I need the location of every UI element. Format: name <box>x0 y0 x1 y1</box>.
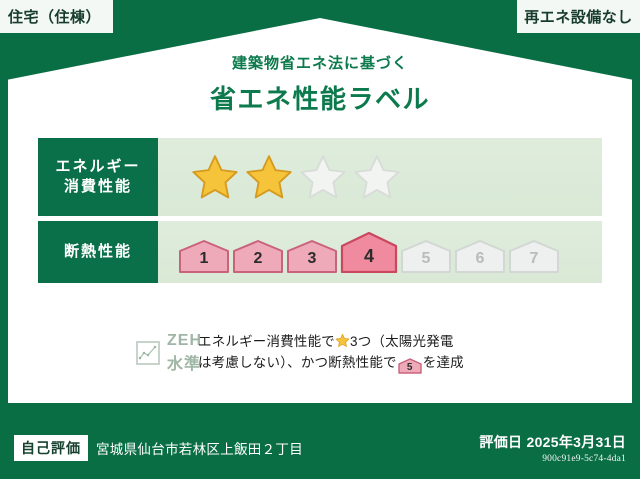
label-footer: 自己評価 宮城県仙台市若林区上飯田２丁目 評価日 2025年3月31日 900c… <box>0 417 640 479</box>
performance-rows: エネルギー 消費性能 <box>38 138 602 283</box>
note-text-part4: を達成 <box>423 355 464 370</box>
insulation-level-5-value: 5 <box>422 250 431 273</box>
evaluation-date: 評価日 2025年3月31日 <box>479 432 626 452</box>
insulation-level-6-value: 6 <box>476 250 485 273</box>
renewable-equipment-tab-label: 再エネ設備なし <box>524 6 633 27</box>
insulation-level-3: 3 <box>286 239 338 273</box>
energy-label-line1: エネルギー <box>55 157 140 177</box>
energy-performance-rating <box>158 138 602 216</box>
insulation-level-6: 6 <box>454 239 506 273</box>
star-rating <box>190 152 402 202</box>
zeh-standard-mark: ZEH水準 <box>38 332 198 374</box>
zeh-note-text: エネルギー消費性能で3つ（太陽光発電は考慮しない）、かつ断熱性能で5を達成 <box>198 332 602 374</box>
insulation-level-2-value: 2 <box>254 250 263 273</box>
insulation-level-7: 7 <box>508 239 560 273</box>
insulation-label: 断熱性能 <box>64 242 132 262</box>
renewable-equipment-tab: 再エネ設備なし <box>517 0 640 33</box>
zeh-label: ZEH水準 <box>167 332 202 374</box>
energy-performance-label-cell: エネルギー 消費性能 <box>38 138 158 216</box>
star-icon-inline <box>335 333 350 348</box>
insulation-performance-rating: 1 2 3 <box>158 221 602 283</box>
star-icon-empty-3 <box>298 152 348 202</box>
footer-right-group: 評価日 2025年3月31日 900c91e9-5c74-4da1 <box>479 432 626 464</box>
note-text-part2: 3つ（太陽光発電 <box>350 334 454 349</box>
note-text-part1: エネルギー消費性能で <box>198 334 335 349</box>
inline-insulation-badge: 5 <box>398 358 422 374</box>
insulation-performance-row: 断熱性能 1 2 <box>38 221 602 283</box>
note-text-part3: は考慮しない）、かつ断熱性能で <box>198 355 397 370</box>
insulation-level-scale: 1 2 3 <box>178 231 560 273</box>
inline-insulation-badge-value: 5 <box>398 358 422 378</box>
insulation-level-1: 1 <box>178 239 230 273</box>
zeh-note: ZEH水準 エネルギー消費性能で3つ（太陽光発電は考慮しない）、かつ断熱性能で5… <box>38 332 602 374</box>
star-icon-filled-1 <box>190 152 240 202</box>
building-type-tab: 住宅（住棟） <box>0 0 113 33</box>
insulation-level-7-value: 7 <box>530 250 539 273</box>
insulation-performance-label-cell: 断熱性能 <box>38 221 158 283</box>
label-subtitle: 建築物省エネ法に基づく <box>0 52 640 73</box>
star-icon-empty-4 <box>352 152 402 202</box>
building-type-tab-label: 住宅（住棟） <box>8 6 101 27</box>
insulation-level-4-value: 4 <box>364 246 374 273</box>
energy-performance-label: 住宅（住棟） 再エネ設備なし 建築物省エネ法に基づく 省エネ性能ラベル エネルギ… <box>0 0 640 479</box>
chart-icon <box>136 341 160 365</box>
label-heading-group: 建築物省エネ法に基づく 省エネ性能ラベル <box>0 52 640 116</box>
evaluation-id: 900c91e9-5c74-4da1 <box>479 454 626 464</box>
footer-left-group: 自己評価 宮城県仙台市若林区上飯田２丁目 <box>14 435 303 461</box>
insulation-level-3-value: 3 <box>308 250 317 273</box>
insulation-level-4-current: 4 <box>340 231 398 273</box>
self-evaluation-badge: 自己評価 <box>14 435 88 461</box>
insulation-level-5: 5 <box>400 239 452 273</box>
energy-performance-row: エネルギー 消費性能 <box>38 138 602 216</box>
insulation-level-2: 2 <box>232 239 284 273</box>
energy-label-line2: 消費性能 <box>64 177 132 197</box>
page-title: 省エネ性能ラベル <box>0 79 640 116</box>
insulation-level-1-value: 1 <box>200 250 209 273</box>
property-address: 宮城県仙台市若林区上飯田２丁目 <box>96 438 303 458</box>
star-icon-filled-2 <box>244 152 294 202</box>
